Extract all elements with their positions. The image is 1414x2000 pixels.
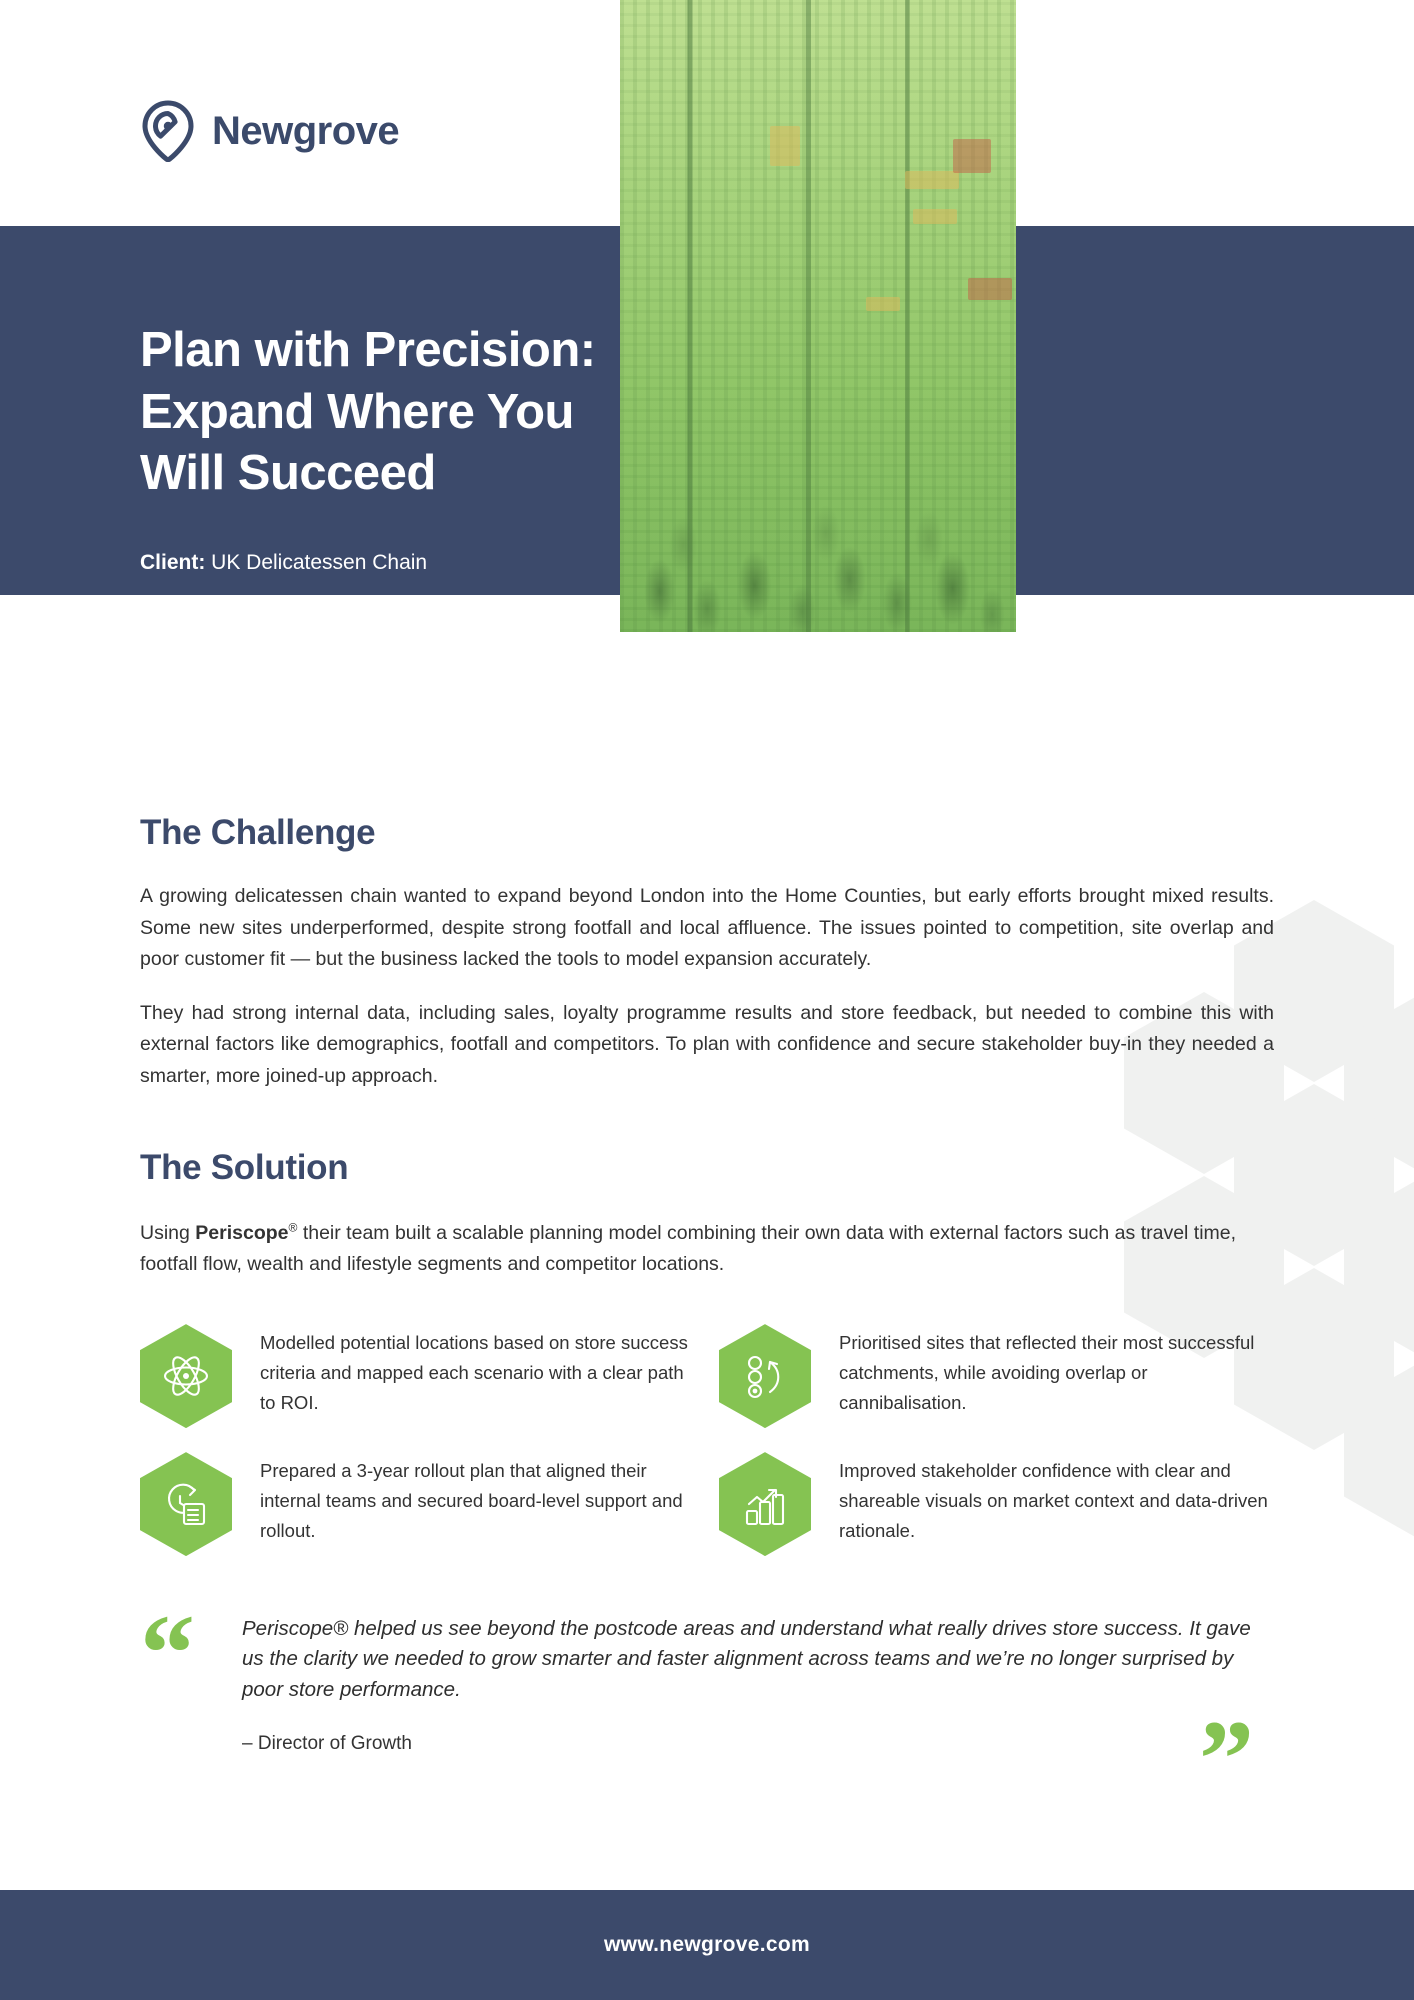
quote-text: Periscope® helped us see beyond the post… bbox=[242, 1614, 1274, 1705]
client-label: Client: bbox=[140, 551, 205, 574]
intro-post: their team built a scalable planning mod… bbox=[140, 1222, 1236, 1275]
benefits-grid: Modelled potential locations based on st… bbox=[140, 1322, 1274, 1556]
benefit-item: Improved stakeholder confidence with cle… bbox=[719, 1450, 1274, 1556]
intro-pre: Using bbox=[140, 1222, 195, 1244]
benefit-text: Prioritised sites that reflected their m… bbox=[839, 1322, 1274, 1418]
client-value: UK Delicatessen Chain bbox=[205, 551, 427, 574]
hero-image bbox=[620, 0, 1016, 632]
benefit-item: Prioritised sites that reflected their m… bbox=[719, 1322, 1274, 1428]
priority-sort-icon bbox=[719, 1324, 811, 1428]
quote-open-mark: “ bbox=[140, 1614, 216, 1693]
solution-intro: Using Periscope® their team built a scal… bbox=[140, 1218, 1274, 1280]
challenge-paragraph-1: A growing delicatessen chain wanted to e… bbox=[140, 881, 1274, 976]
brand-name: Newgrove bbox=[212, 109, 399, 154]
client-line: Client: UK Delicatessen Chain bbox=[140, 549, 610, 576]
hero-copy: Plan with Precision: Expand Where You Wi… bbox=[140, 320, 610, 577]
periscope-brand: Periscope bbox=[195, 1222, 288, 1244]
page-title: Plan with Precision: Expand Where You Wi… bbox=[140, 320, 610, 505]
benefit-text: Prepared a 3-year rollout plan that alig… bbox=[260, 1450, 695, 1546]
document-body: The Challenge A growing delicatessen cha… bbox=[0, 595, 1414, 1755]
website-url[interactable]: www.newgrove.com bbox=[604, 1933, 810, 1957]
bar-chart-growth-icon bbox=[719, 1452, 811, 1556]
quote-attribution: – Director of Growth bbox=[242, 1733, 1274, 1755]
atom-icon bbox=[140, 1324, 232, 1428]
benefit-item: Prepared a 3-year rollout plan that alig… bbox=[140, 1450, 695, 1556]
page-footer: www.newgrove.com bbox=[0, 1890, 1414, 2000]
clock-checklist-icon bbox=[140, 1452, 232, 1556]
location-pin-icon bbox=[140, 100, 196, 162]
solution-heading: The Solution bbox=[140, 1148, 1274, 1188]
challenge-paragraph-2: They had strong internal data, including… bbox=[140, 998, 1274, 1093]
challenge-heading: The Challenge bbox=[140, 813, 1274, 853]
benefit-text: Improved stakeholder confidence with cle… bbox=[839, 1450, 1274, 1546]
brand-logo[interactable]: Newgrove bbox=[140, 100, 399, 162]
benefit-item: Modelled potential locations based on st… bbox=[140, 1322, 695, 1428]
quote-close-mark: ” bbox=[1199, 1720, 1254, 1799]
testimonial-quote: “ Periscope® helped us see beyond the po… bbox=[140, 1606, 1274, 1755]
benefit-text: Modelled potential locations based on st… bbox=[260, 1322, 695, 1418]
